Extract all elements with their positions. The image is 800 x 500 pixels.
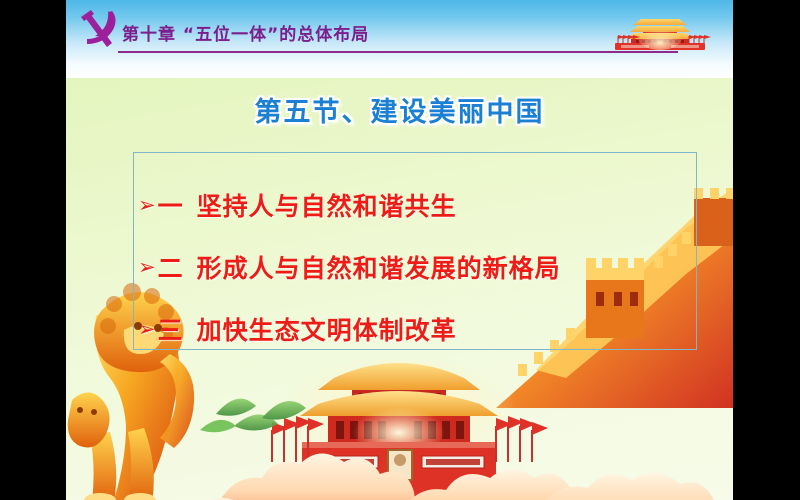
list-item-label: 加快生态文明体制改革	[197, 311, 457, 347]
slide-header: 第十章 “五位一体”的总体布局	[66, 0, 733, 78]
chapter-title: 第十章 “五位一体”的总体布局	[122, 20, 369, 45]
list-item[interactable]: ➢ 二 形成人与自然和谐发展的新格局	[138, 236, 698, 298]
list-item-label: 坚持人与自然和谐共生	[197, 187, 457, 223]
list-item-label: 形成人与自然和谐发展的新格局	[197, 249, 561, 285]
arrow-bullet-icon: ➢	[138, 257, 156, 278]
bullet-list: ➢ 一 坚持人与自然和谐共生 ➢ 二 形成人与自然和谐发展的新格局 ➢ 三 加快…	[138, 174, 698, 360]
arrow-bullet-icon: ➢	[138, 195, 156, 216]
tiananmen-gate-icon	[601, 12, 719, 52]
list-item[interactable]: ➢ 一 坚持人与自然和谐共生	[138, 174, 698, 236]
list-item-index: 三	[158, 311, 183, 347]
list-item-index: 一	[158, 187, 183, 223]
tiananmen-gate-illustration	[272, 348, 548, 500]
slide-body: 第五节、建设美丽中国 ➢ 一 坚持人与自然和谐共生 ➢ 二 形成人与自然和谐发展…	[66, 78, 733, 500]
slide-stage: 第十章 “五位一体”的总体布局	[0, 0, 800, 500]
greenery-illustration	[200, 399, 306, 433]
header-underline	[118, 51, 678, 53]
hammer-sickle-emblem-icon	[78, 8, 124, 52]
presentation-slide: 第十章 “五位一体”的总体布局	[66, 0, 733, 500]
page-title: 第五节、建设美丽中国	[66, 90, 733, 129]
auspicious-clouds	[148, 453, 724, 500]
list-item-index: 二	[158, 249, 183, 285]
arrow-bullet-icon: ➢	[138, 319, 156, 340]
list-item[interactable]: ➢ 三 加快生态文明体制改革	[138, 298, 698, 360]
